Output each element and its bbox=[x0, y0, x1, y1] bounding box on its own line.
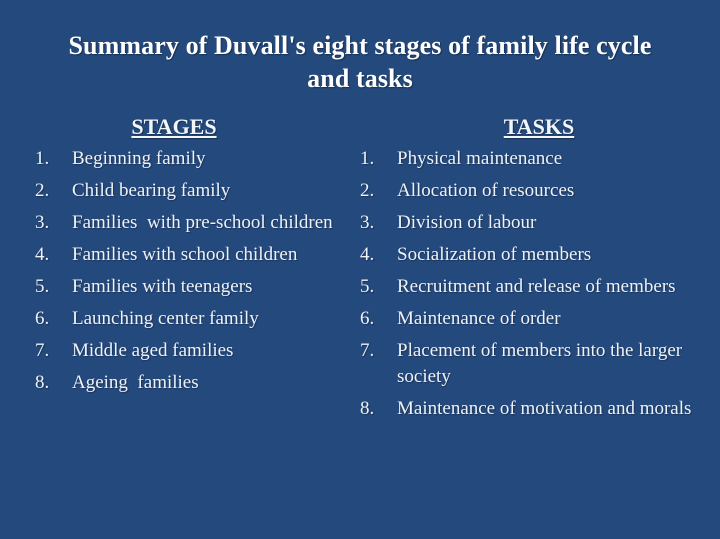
list-item-number: 5. bbox=[35, 274, 72, 300]
list-item-number: 1. bbox=[35, 146, 72, 172]
list-item-text: Division of labour bbox=[397, 210, 710, 236]
list-item-text: Maintenance of order bbox=[397, 306, 710, 332]
list-item-number: 6. bbox=[360, 306, 397, 332]
slide-columns: STAGES 1. Beginning family 2. Child bear… bbox=[0, 114, 720, 428]
list-item-number: 3. bbox=[360, 210, 397, 236]
list-item-number: 8. bbox=[35, 370, 72, 396]
tasks-list: 1. Physical maintenance 2. Allocation of… bbox=[360, 146, 710, 422]
list-item-text: Placement of members into the larger soc… bbox=[397, 338, 710, 390]
list-item: 4. Socialization of members bbox=[360, 242, 710, 268]
list-item-number: 4. bbox=[360, 242, 397, 268]
list-item-number: 8. bbox=[360, 396, 397, 422]
list-item-number: 5. bbox=[360, 274, 397, 300]
list-item-text: Launching center family bbox=[72, 306, 345, 332]
list-item-text: Recruitment and release of members bbox=[397, 274, 710, 300]
list-item: 1. Physical maintenance bbox=[360, 146, 710, 172]
presentation-slide: Summary of Duvall's eight stages of fami… bbox=[0, 0, 720, 539]
list-item-text: Middle aged families bbox=[72, 338, 345, 364]
list-item: 3. Division of labour bbox=[360, 210, 710, 236]
list-item-number: 2. bbox=[35, 178, 72, 204]
list-item-number: 6. bbox=[35, 306, 72, 332]
slide-title-line-1: Summary of Duvall's eight stages of fami… bbox=[40, 29, 680, 62]
list-item-text: Families with pre-school children bbox=[72, 210, 345, 236]
list-item: 7. Middle aged families bbox=[35, 338, 345, 364]
list-item-number: 1. bbox=[360, 146, 397, 172]
list-item-text: Ageing families bbox=[72, 370, 345, 396]
list-item-number: 7. bbox=[35, 338, 72, 364]
list-item-number: 7. bbox=[360, 338, 397, 364]
list-item-text: Beginning family bbox=[72, 146, 345, 172]
list-item: 3. Families with pre-school children bbox=[35, 210, 345, 236]
list-item: 5. Families with teenagers bbox=[35, 274, 345, 300]
list-item: 2. Child bearing family bbox=[35, 178, 345, 204]
slide-title-line-2: and tasks bbox=[40, 62, 680, 95]
list-item-text: Families with school children bbox=[72, 242, 345, 268]
stages-column: STAGES 1. Beginning family 2. Child bear… bbox=[0, 114, 350, 428]
list-item: 4. Families with school children bbox=[35, 242, 345, 268]
list-item-number: 2. bbox=[360, 178, 397, 204]
list-item: 7. Placement of members into the larger … bbox=[360, 338, 710, 390]
list-item: 8. Ageing families bbox=[35, 370, 345, 396]
slide-title: Summary of Duvall's eight stages of fami… bbox=[40, 29, 680, 95]
list-item: 5. Recruitment and release of members bbox=[360, 274, 710, 300]
tasks-column-heading: TASKS bbox=[360, 114, 710, 140]
stages-column-heading: STAGES bbox=[35, 114, 345, 140]
list-item-text: Allocation of resources bbox=[397, 178, 710, 204]
list-item-text: Families with teenagers bbox=[72, 274, 345, 300]
list-item: 6. Launching center family bbox=[35, 306, 345, 332]
list-item-number: 3. bbox=[35, 210, 72, 236]
list-item: 6. Maintenance of order bbox=[360, 306, 710, 332]
list-item: 1. Beginning family bbox=[35, 146, 345, 172]
list-item-text: Physical maintenance bbox=[397, 146, 710, 172]
list-item-text: Socialization of members bbox=[397, 242, 710, 268]
list-item-text: Maintenance of motivation and morals bbox=[397, 396, 710, 422]
tasks-column: TASKS 1. Physical maintenance 2. Allocat… bbox=[350, 114, 720, 428]
list-item: 8. Maintenance of motivation and morals bbox=[360, 396, 710, 422]
list-item: 2. Allocation of resources bbox=[360, 178, 710, 204]
list-item-text: Child bearing family bbox=[72, 178, 345, 204]
stages-list: 1. Beginning family 2. Child bearing fam… bbox=[35, 146, 345, 396]
list-item-number: 4. bbox=[35, 242, 72, 268]
